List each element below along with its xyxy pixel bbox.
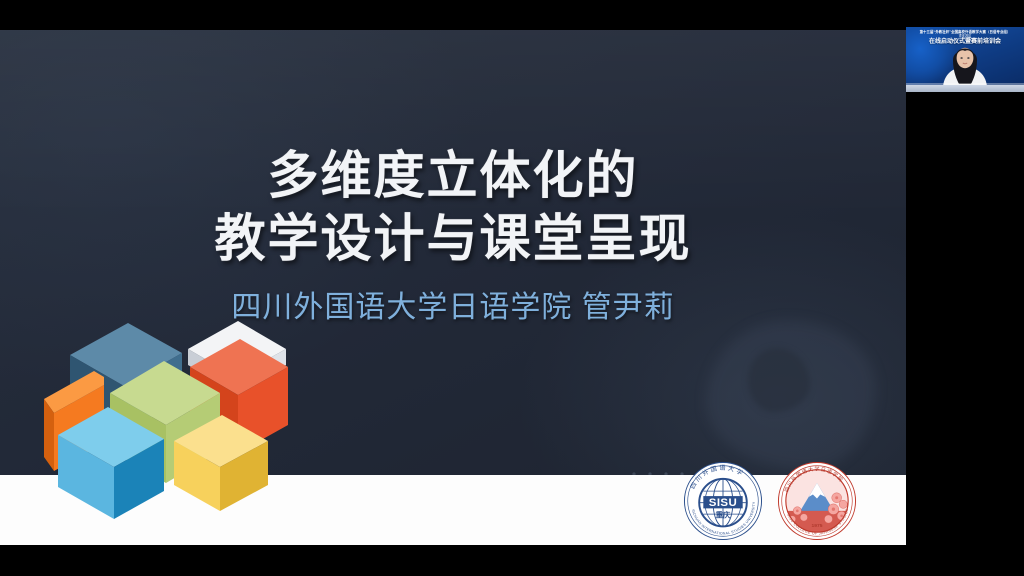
japanese-studies-college-seal: 1975 四川外国语大学日语学院 SISU COLLEGE OF JAPANES… [776,460,858,542]
webcam-banner-line-1: 第十三届“外教社杯”全国高校外语教学大赛（日语专业组） [908,30,1022,34]
university-seals: SISU 重庆 四川外国语大学 SICHUAN INTERNATIONAL ST… [682,460,858,542]
presenter-webcam-feed[interactable]: 第十三届“外教社杯”全国高校外语教学大赛（日语专业组） 重庆赛区 在线启动仪式暨… [906,27,1024,92]
presenter-figure [935,38,995,86]
svg-text:重庆: 重庆 [716,510,731,519]
slide-title-line-1: 多维度立体化的 [0,145,906,208]
webcam-desk [906,85,1024,92]
slide-title-line-2: 教学设计与课堂呈现 [0,208,906,271]
svg-text:SISU: SISU [709,497,737,509]
screen-share-viewport: 多维度立体化的 教学设计与课堂呈现 四川外国语大学日语学院 管尹莉 [0,0,1024,576]
presentation-slide: 多维度立体化的 教学设计与课堂呈现 四川外国语大学日语学院 管尹莉 [0,30,906,545]
exploded-cube-logo [24,293,294,533]
letterbox-bottom-bar [0,545,1024,576]
sisu-university-seal: SISU 重庆 四川外国语大学 SICHUAN INTERNATIONAL ST… [682,460,764,542]
letterbox-top-bar [0,0,1024,30]
svg-text:1975: 1975 [812,523,823,529]
